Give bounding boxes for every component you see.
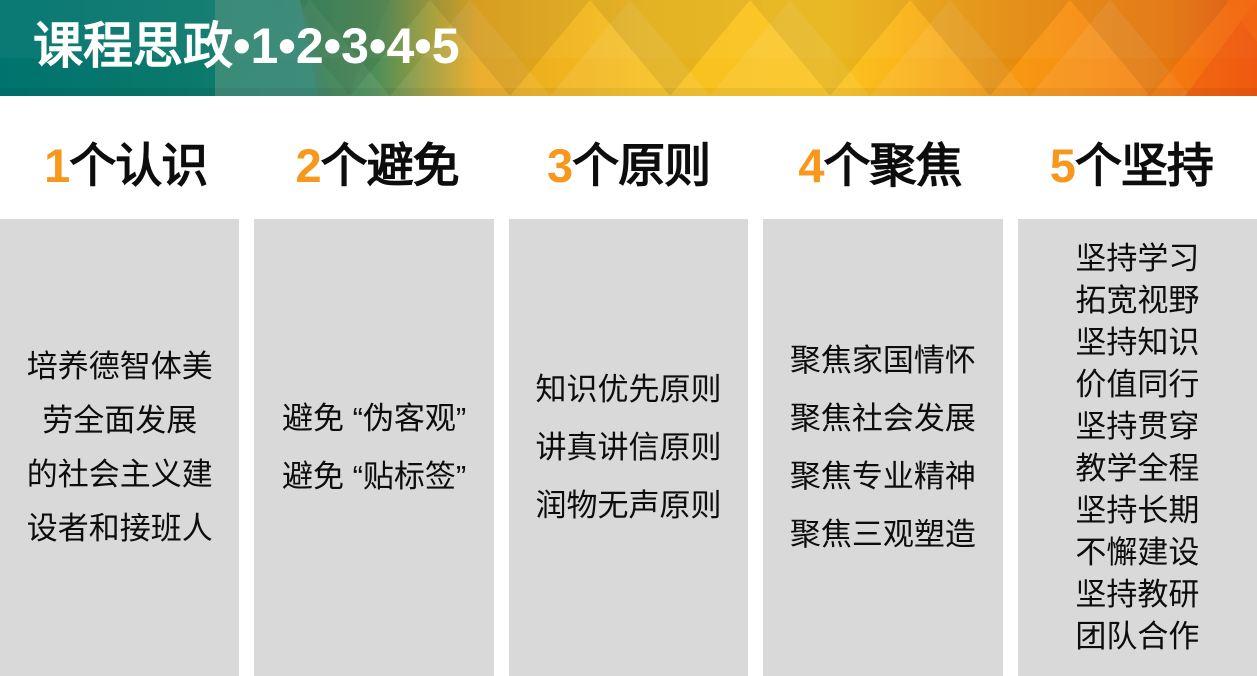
content-lines-4: 聚焦家国情怀 聚焦社会发展 聚焦专业精神 聚焦三观塑造: [763, 332, 1002, 564]
content-line: 聚焦社会发展: [767, 390, 998, 448]
content-line: 坚持知识: [1022, 322, 1253, 364]
content-line: 润物无声原则: [513, 477, 744, 535]
heading-text-5: 5个坚持: [1050, 127, 1213, 196]
heading-number-3: 3: [547, 139, 572, 192]
content-line: 的社会主义建: [4, 448, 235, 502]
content-line: 坚持学习: [1022, 238, 1253, 280]
heading-label-1: 个认识: [69, 139, 207, 192]
heading-number-1: 1: [44, 139, 69, 192]
content-line: 知识优先原则: [513, 361, 744, 419]
banner-title: 课程思政•1•2•3•4•5: [33, 0, 460, 96]
column-heading-1: 1个认识: [0, 118, 251, 204]
content-line: 避免 “伪客观”: [258, 390, 489, 448]
content-line: 讲真讲信原则: [513, 419, 744, 477]
content-box-5: 坚持学习 拓宽视野 坚持知识 价值同行 坚持贯穿 教学全程 坚持长期 不懈建设 …: [1018, 219, 1257, 676]
content-lines-1: 培养德智体美 劳全面发展 的社会主义建 设者和接班人: [0, 340, 239, 556]
content-line: 聚焦家国情怀: [767, 332, 998, 390]
heading-text-3: 3个原则: [547, 127, 710, 196]
heading-text-1: 1个认识: [44, 127, 207, 196]
column-heading-5: 5个坚持: [1006, 118, 1257, 204]
heading-text-4: 4个聚焦: [798, 127, 961, 196]
heading-number-5: 5: [1050, 139, 1075, 192]
heading-label-4: 个聚焦: [823, 139, 961, 192]
header-banner: 课程思政•1•2•3•4•5: [0, 0, 1257, 96]
column-headings-row: 1个认识 2个避免 3个原则 4个聚焦 5个坚持: [0, 118, 1257, 204]
content-box-1: 培养德智体美 劳全面发展 的社会主义建 设者和接班人: [0, 219, 239, 676]
heading-number-2: 2: [296, 139, 321, 192]
content-box-2: 避免 “伪客观” 避免 “贴标签”: [254, 219, 493, 676]
content-boxes-row: 培养德智体美 劳全面发展 的社会主义建 设者和接班人 避免 “伪客观” 避免 “…: [0, 219, 1257, 676]
content-box-3: 知识优先原则 讲真讲信原则 润物无声原则: [509, 219, 748, 676]
column-heading-4: 4个聚焦: [754, 118, 1005, 204]
content-line: 不懈建设: [1022, 532, 1253, 574]
content-box-4: 聚焦家国情怀 聚焦社会发展 聚焦专业精神 聚焦三观塑造: [763, 219, 1002, 676]
heading-text-2: 2个避免: [296, 127, 459, 196]
content-line: 聚焦三观塑造: [767, 506, 998, 564]
content-line: 避免 “贴标签”: [258, 448, 489, 506]
content-line: 教学全程: [1022, 448, 1253, 490]
content-line: 价值同行: [1022, 364, 1253, 406]
content-line: 团队合作: [1022, 616, 1253, 658]
content-lines-5: 坚持学习 拓宽视野 坚持知识 价值同行 坚持贯穿 教学全程 坚持长期 不懈建设 …: [1018, 238, 1257, 658]
content-line: 拓宽视野: [1022, 280, 1253, 322]
heading-label-2: 个避免: [321, 139, 459, 192]
column-heading-3: 3个原则: [503, 118, 754, 204]
heading-number-4: 4: [798, 139, 823, 192]
heading-label-3: 个原则: [572, 139, 710, 192]
content-line: 培养德智体美: [4, 340, 235, 394]
column-heading-2: 2个避免: [251, 118, 502, 204]
content-line: 劳全面发展: [4, 394, 235, 448]
heading-label-5: 个坚持: [1075, 139, 1213, 192]
content-line: 坚持贯穿: [1022, 406, 1253, 448]
slide-root: 课程思政•1•2•3•4•5 1个认识 2个避免 3个原则 4个聚焦 5个坚持 …: [0, 0, 1257, 676]
content-line: 聚焦专业精神: [767, 448, 998, 506]
content-line: 设者和接班人: [4, 502, 235, 556]
content-lines-3: 知识优先原则 讲真讲信原则 润物无声原则: [509, 361, 748, 535]
content-lines-2: 避免 “伪客观” 避免 “贴标签”: [254, 390, 493, 506]
content-line: 坚持教研: [1022, 574, 1253, 616]
content-line: 坚持长期: [1022, 490, 1253, 532]
